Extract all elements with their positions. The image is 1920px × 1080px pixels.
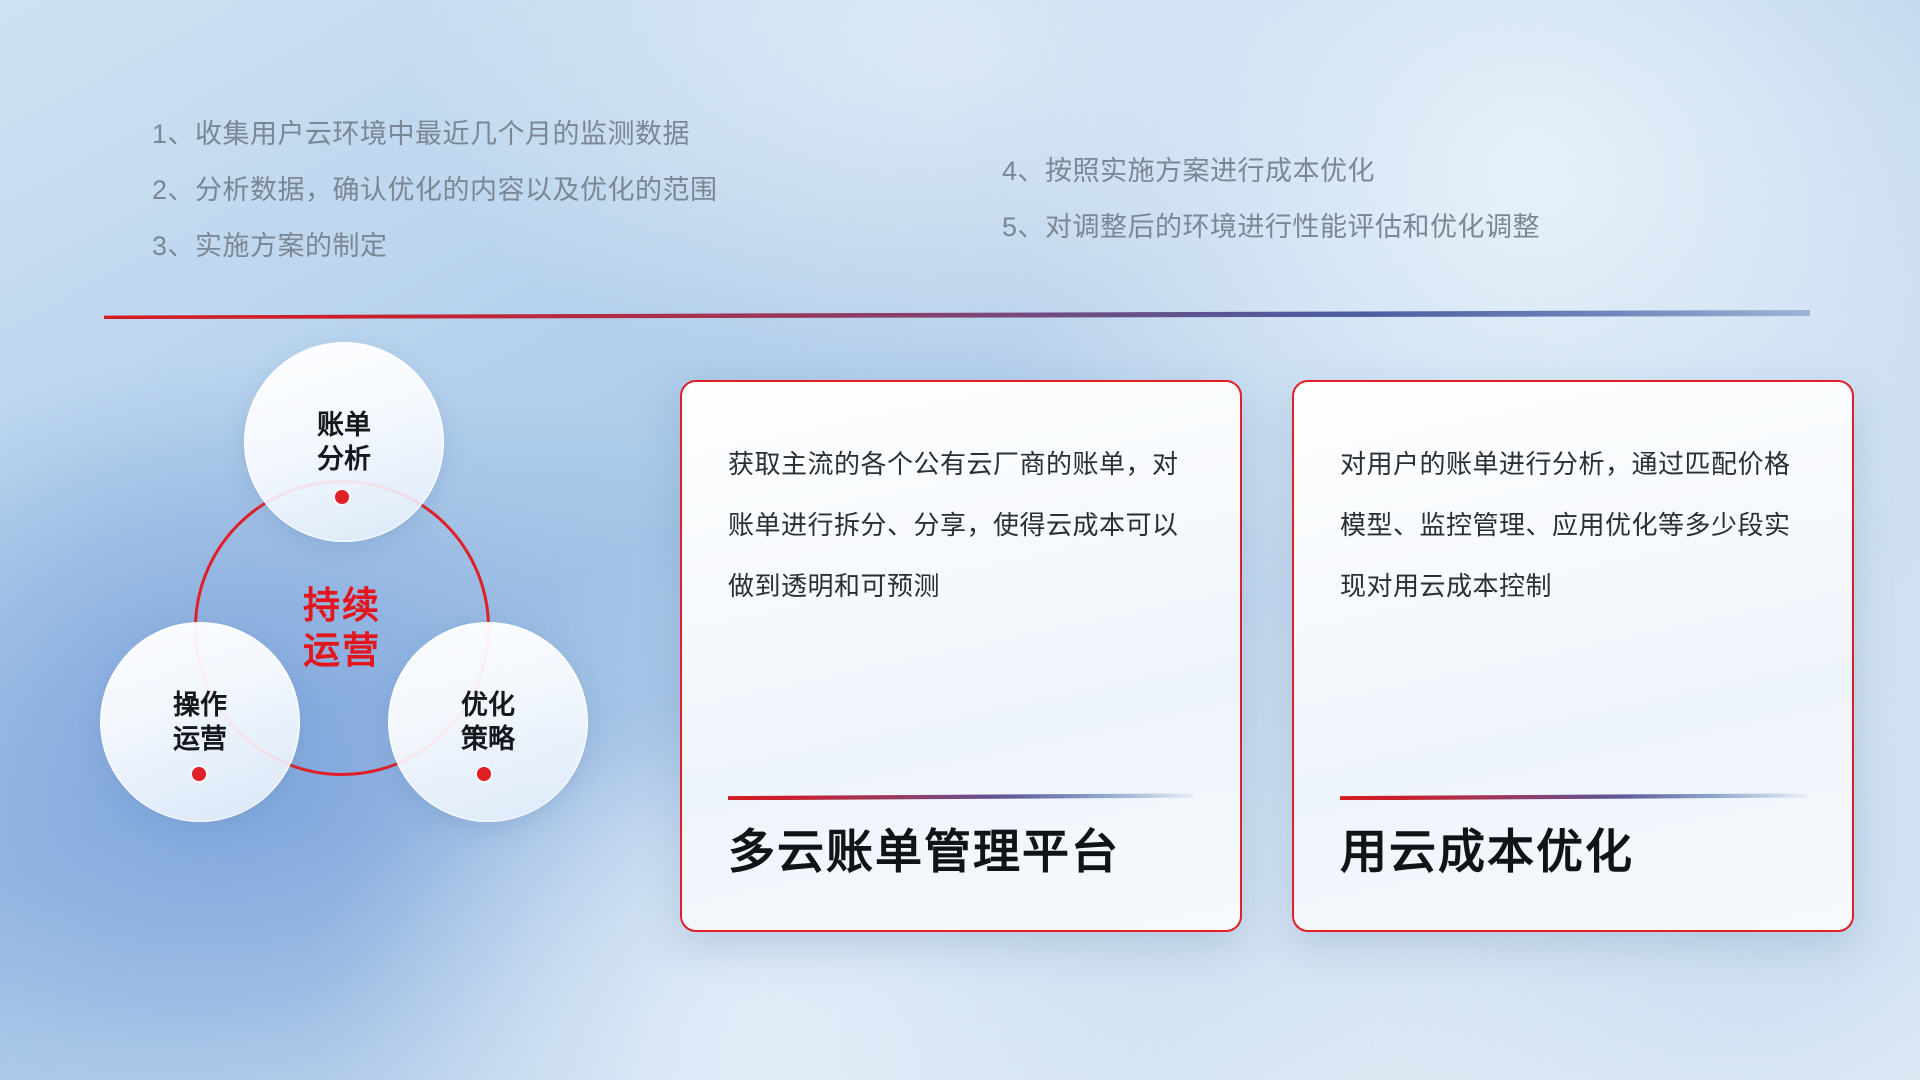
step-item-3: 3、实施方案的制定	[152, 230, 718, 264]
node-label-line2: 运营	[173, 722, 227, 756]
card-title: 多云账单管理平台	[728, 826, 1194, 896]
slide-canvas: 1、收集用户云环境中最近几个月的监测数据 2、分析数据，确认优化的内容以及优化的…	[0, 0, 1920, 1080]
card-rule	[728, 793, 1194, 800]
diagram-node-dot-top	[335, 490, 349, 504]
divider-bar	[104, 310, 1810, 319]
node-label-line2: 分析	[317, 442, 371, 476]
diagram-node-dot-left	[192, 767, 206, 781]
node-label-line1: 优化	[461, 688, 515, 722]
step-item-5: 5、对调整后的环境进行性能评估和优化调整	[1002, 211, 1540, 245]
card-rule	[1340, 793, 1806, 800]
diagram-node-optimization-strategy[interactable]: 优化 策略	[388, 622, 588, 822]
info-card-multicloud-billing[interactable]: 获取主流的各个公有云厂商的账单，对账单进行拆分、分享，使得云成本可以做到透明和可…	[680, 380, 1242, 932]
steps-list-right: 4、按照实施方案进行成本优化 5、对调整后的环境进行性能评估和优化调整	[1002, 155, 1540, 245]
step-item-4: 4、按照实施方案进行成本优化	[1002, 155, 1540, 189]
step-item-1: 1、收集用户云环境中最近几个月的监测数据	[152, 118, 718, 152]
step-item-2: 2、分析数据，确认优化的内容以及优化的范围	[152, 174, 718, 208]
node-label-line2: 策略	[461, 722, 515, 756]
steps-list-left: 1、收集用户云环境中最近几个月的监测数据 2、分析数据，确认优化的内容以及优化的…	[152, 118, 718, 263]
section-divider	[104, 310, 1810, 319]
diagram-node-billing-analysis[interactable]: 账单 分析	[244, 342, 444, 542]
diagram-node-dot-right	[477, 767, 491, 781]
card-title: 用云成本优化	[1340, 826, 1806, 896]
cycle-diagram: 持续 运营 账单 分析 操作 运营 优化 策略	[96, 352, 616, 932]
card-body-text: 对用户的账单进行分析，通过匹配价格模型、监控管理、应用优化等多少段实现对用云成本…	[1340, 434, 1806, 789]
info-card-cost-optimization[interactable]: 对用户的账单进行分析，通过匹配价格模型、监控管理、应用优化等多少段实现对用云成本…	[1292, 380, 1854, 932]
node-label-line1: 账单	[317, 408, 371, 442]
card-body-text: 获取主流的各个公有云厂商的账单，对账单进行拆分、分享，使得云成本可以做到透明和可…	[728, 434, 1194, 789]
node-label-line1: 操作	[173, 688, 227, 722]
diagram-node-operations[interactable]: 操作 运营	[100, 622, 300, 822]
